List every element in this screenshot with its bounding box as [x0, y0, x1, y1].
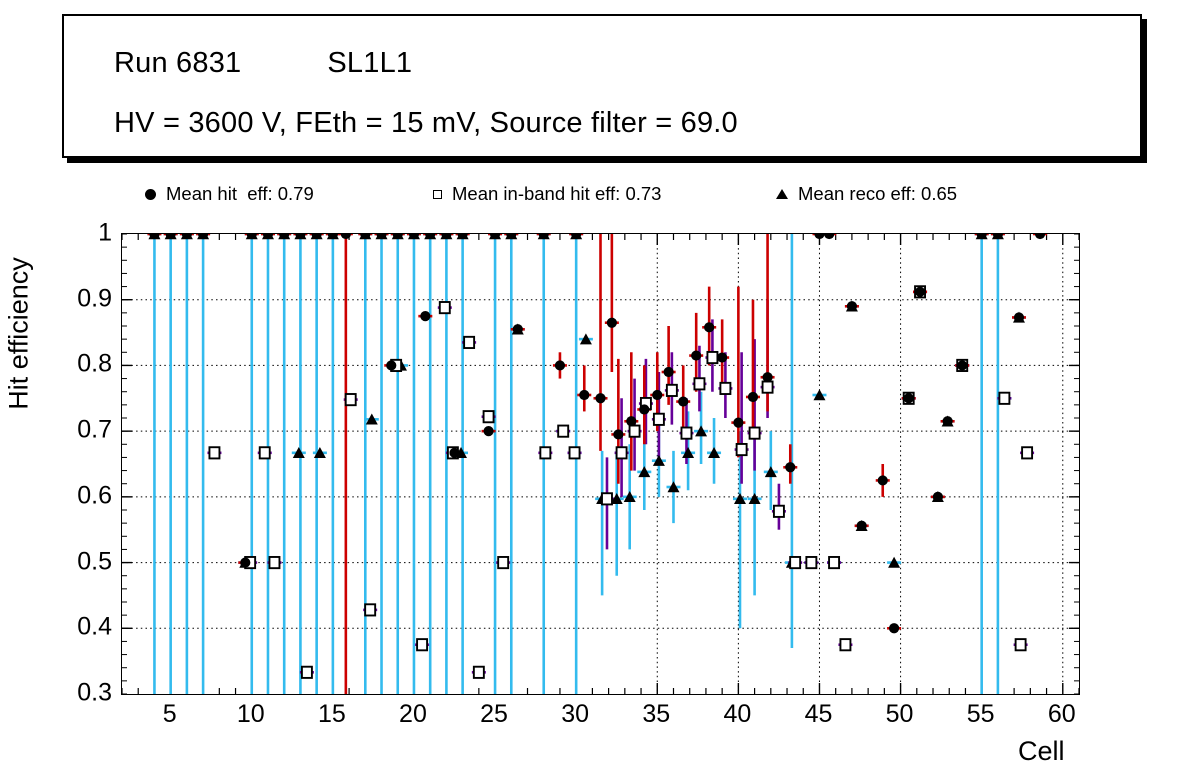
- run-label: Run 6831: [114, 47, 241, 79]
- x-tick-label: 10: [237, 700, 265, 729]
- y-tick-label: 0.9: [77, 284, 112, 313]
- x-tick-label: 30: [561, 700, 589, 729]
- y-tick-label: 0.4: [77, 613, 112, 642]
- x-tick-label: 40: [723, 700, 751, 729]
- filled-circle-icon: [145, 189, 156, 200]
- x-tick-label: 45: [805, 700, 833, 729]
- plot-frame: [121, 233, 1080, 695]
- filled-triangle-icon: [776, 189, 788, 199]
- legend-label-inband-eff: Mean in-band hit eff: 0.73: [452, 183, 661, 205]
- y-axis-label: Hit efficiency: [4, 139, 35, 529]
- x-tick-label: 15: [318, 700, 346, 729]
- y-tick-label: 0.6: [77, 481, 112, 510]
- open-square-icon: [433, 190, 442, 199]
- y-tick-label: 0.7: [77, 416, 112, 445]
- x-tick-label: 50: [886, 700, 914, 729]
- plot-canvas: Run 6831SL1L1 HV = 3600 V, FEth = 15 mV,…: [0, 0, 1196, 772]
- legend-entry-hit-eff: Mean hit eff: 0.79: [145, 176, 314, 212]
- x-tick-label: 35: [642, 700, 670, 729]
- x-axis-ticks: 51015202530354045505560: [121, 700, 1078, 734]
- data-layer: [122, 234, 1079, 694]
- x-axis-label: Cell: [1018, 736, 1065, 767]
- legend-entry-inband-eff: Mean in-band hit eff: 0.73: [433, 176, 661, 212]
- x-tick-label: 5: [163, 700, 177, 729]
- legend-label-reco-eff: Mean reco eff: 0.65: [798, 183, 957, 205]
- x-tick-label: 25: [480, 700, 508, 729]
- x-tick-label: 20: [399, 700, 427, 729]
- chamber-label: SL1L1: [327, 47, 412, 79]
- y-tick-label: 1: [98, 219, 112, 248]
- config-label: HV = 3600 V, FEth = 15 mV, Source filter…: [114, 107, 738, 140]
- legend-entry-reco-eff: Mean reco eff: 0.65: [776, 176, 957, 212]
- x-tick-label: 60: [1048, 700, 1076, 729]
- title-box: Run 6831SL1L1 HV = 3600 V, FEth = 15 mV,…: [62, 14, 1142, 158]
- legend-label-hit-eff: Mean hit eff: 0.79: [166, 183, 314, 205]
- y-tick-label: 0.3: [77, 679, 112, 708]
- y-tick-label: 0.5: [77, 547, 112, 576]
- plot-area: [122, 234, 1079, 694]
- y-tick-label: 0.8: [77, 350, 112, 379]
- x-tick-label: 55: [967, 700, 995, 729]
- legend: Mean hit eff: 0.79 Mean in-band hit eff:…: [121, 176, 1078, 212]
- run-title-line: Run 6831SL1L1: [114, 47, 412, 80]
